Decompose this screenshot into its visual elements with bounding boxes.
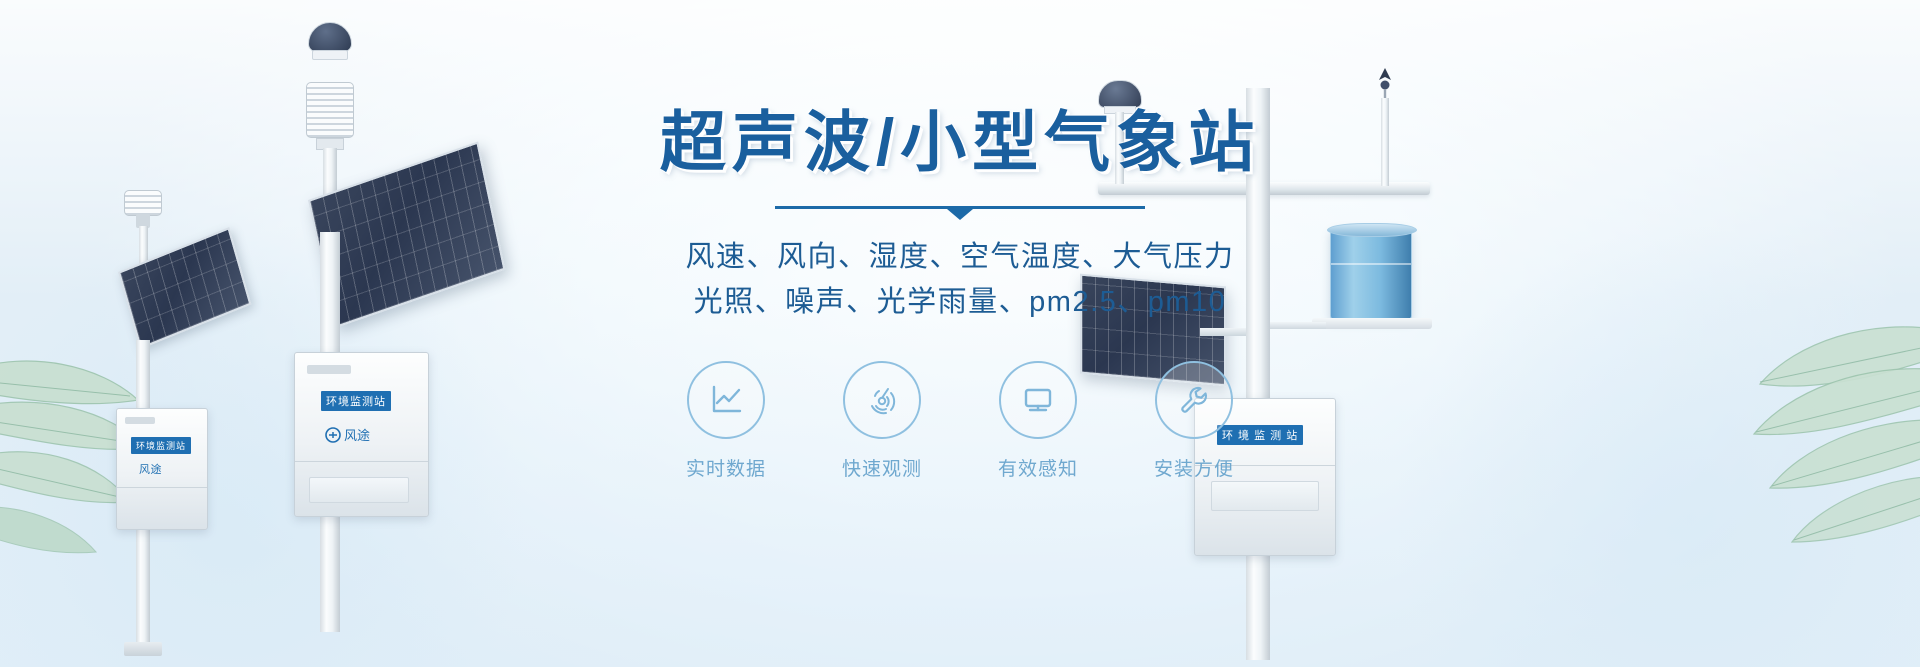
ultrasonic-wind-sensor [308, 22, 352, 52]
radar-sensor-icon [861, 379, 903, 421]
page-title: 超声波/小型气象站 [660, 108, 1260, 177]
cabinet-drawer-right [1211, 481, 1319, 511]
ultrasonic-anemometer-right [1098, 80, 1142, 108]
feature-icon-circle [843, 361, 921, 439]
subtitle-block: 风速、风向、湿度、空气温度、大气压力 光照、噪声、光学雨量、pm2.5、pm10 [685, 235, 1234, 325]
feature-icon-circle [999, 361, 1077, 439]
feature-label: 有效感知 [998, 454, 1078, 481]
wrench-icon [1173, 379, 1215, 421]
subtitle-line-1: 风速、风向、湿度、空气温度、大气压力 [685, 235, 1234, 280]
feature-item-easy-install[interactable]: 安装方便 [1143, 361, 1245, 481]
feature-icon-circle [687, 361, 765, 439]
feature-item-fast-observation[interactable]: 快速观测 [831, 361, 933, 481]
feature-label: 安装方便 [1154, 454, 1234, 481]
divider-triangle-icon [947, 209, 973, 220]
cabinet-seam [117, 487, 207, 488]
feature-list: 实时数据 快 [675, 361, 1245, 481]
feature-item-realtime-data[interactable]: 实时数据 [675, 361, 777, 481]
hero-banner: 环境监测站 风途 环境监测站 风途 [0, 0, 1920, 667]
feature-item-effective-sensing[interactable]: 有效感知 [987, 361, 1089, 481]
subtitle-line-2: 光照、噪声、光学雨量、pm2.5、pm10 [685, 280, 1234, 325]
feature-label: 快速观测 [842, 454, 922, 481]
hero-content: 超声波/小型气象站 风速、风向、湿度、空气温度、大气压力 光照、噪声、光学雨量、… [0, 108, 1920, 481]
line-chart-icon [705, 379, 747, 421]
feature-icon-circle [1155, 361, 1233, 439]
title-divider [775, 203, 1145, 219]
pole-base-left [124, 642, 162, 656]
sensor-collar [312, 50, 348, 60]
feature-label: 实时数据 [686, 454, 766, 481]
wind-vane-right [1368, 66, 1402, 100]
monitor-icon [1017, 379, 1059, 421]
